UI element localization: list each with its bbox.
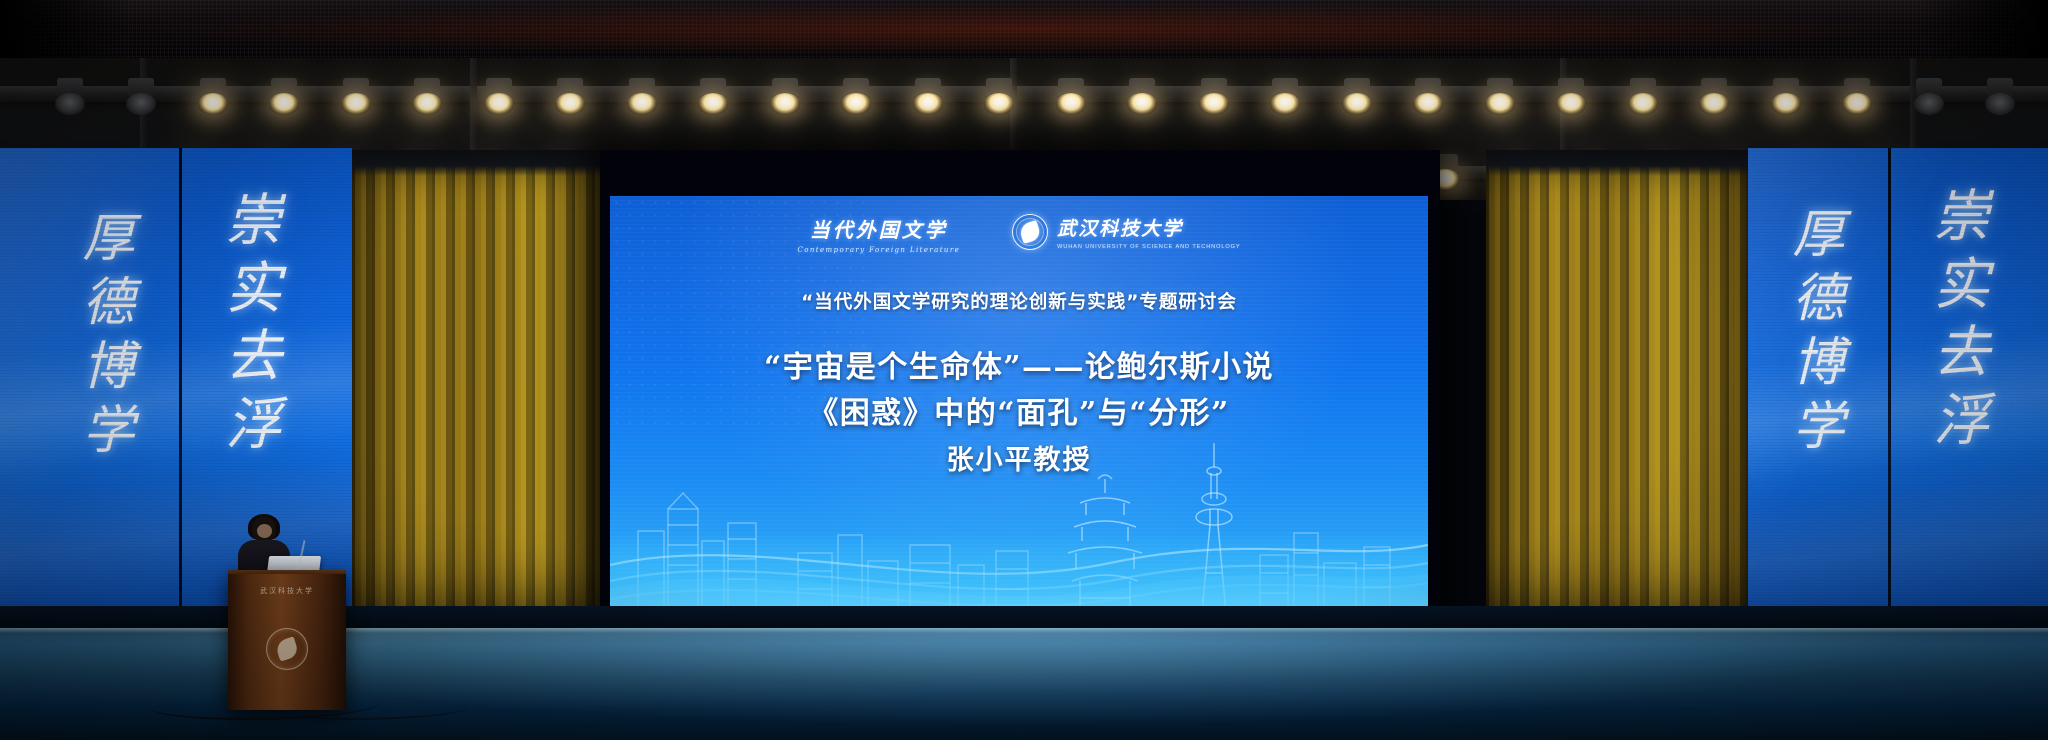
led-banner-text: “当代外国文学研究的理论创新与实践”专题研讨会 (0, 0, 2048, 58)
light-lens-icon (1628, 93, 1658, 115)
wall-panel-seam (179, 148, 182, 668)
light-lens-icon (126, 93, 156, 115)
curtain-valance (1486, 150, 1748, 176)
stage-light-fixture (1483, 78, 1517, 118)
university-logo-en: WUHAN UNIVERSITY OF SCIENCE AND TECHNOLO… (1057, 244, 1240, 250)
light-lens-icon (698, 93, 728, 115)
led-banner: “当代外国文学研究的理论创新与实践”专题研讨会 (0, 0, 2048, 58)
light-lens-icon (1056, 93, 1086, 115)
light-lens-icon (1556, 93, 1586, 115)
stage-light-fixture (1054, 78, 1088, 118)
light-lens-icon (269, 93, 299, 115)
podium-emblem-icon (266, 628, 308, 670)
light-lens-icon (1199, 93, 1229, 115)
stage-light-fixture (1697, 78, 1731, 118)
light-lens-icon (1771, 93, 1801, 115)
wall-panel-seam (1888, 148, 1891, 668)
stage-light-fixture (1554, 78, 1588, 118)
light-lens-icon (984, 93, 1014, 115)
stage-light-fixture (911, 78, 945, 118)
light-lens-icon (484, 93, 514, 115)
screen-speaker-name: 张小平教授 (610, 438, 1428, 477)
calligraphy-left-column-1: 厚德博学 (66, 210, 141, 466)
light-lens-icon (770, 93, 800, 115)
stage-light-fixture (1912, 78, 1946, 118)
calligraphy-right-column-2: 崇实去浮 (1916, 186, 1997, 458)
yellow-crane-tower-icon (1068, 475, 1142, 613)
light-lens-icon (1270, 93, 1300, 115)
stage-light-fixture (696, 78, 730, 118)
stage-light-fixture (267, 78, 301, 118)
podium-label: 武汉科技大学 (260, 586, 314, 596)
stage-curtain-right (1486, 150, 1748, 650)
light-lens-icon (1842, 93, 1872, 115)
stage-light-fixture (553, 78, 587, 118)
stage-light-fixture (1983, 78, 2017, 118)
stage-light-fixture (339, 78, 373, 118)
light-lens-icon (627, 93, 657, 115)
university-emblem-icon (1012, 214, 1048, 250)
light-lens-icon (198, 93, 228, 115)
stage-light-fixture (53, 78, 87, 118)
stage-light-fixture (768, 78, 802, 118)
light-lens-icon (1413, 93, 1443, 115)
light-lens-icon (913, 93, 943, 115)
light-lens-icon (1485, 93, 1515, 115)
light-lens-icon (555, 93, 585, 115)
screen-logo-row: 当代外国文学 Contemporary Foreign Literature 武… (610, 214, 1428, 254)
stage-light-fixture (410, 78, 444, 118)
podium-top-surface (228, 570, 346, 574)
light-lens-icon (1127, 93, 1157, 115)
truss-bar-upper (0, 86, 2048, 102)
stage-light-fixture (1197, 78, 1231, 118)
projection-screen: 当代外国文学 Contemporary Foreign Literature 武… (610, 196, 1428, 628)
stage-curtain-left (352, 150, 612, 650)
university-logo-cn: 武汉科技大学 (1057, 214, 1240, 241)
light-lens-icon (341, 93, 371, 115)
stage-light-fixture (124, 78, 158, 118)
curtain-valance (352, 150, 612, 176)
journal-logo-en: Contemporary Foreign Literature (798, 246, 961, 254)
stage-light-fixture (1340, 78, 1374, 118)
light-lens-icon (1342, 93, 1372, 115)
stage-light-fixture (482, 78, 516, 118)
wall-sheen (0, 313, 352, 484)
light-lens-icon (55, 93, 85, 115)
stage-light-fixture (1125, 78, 1159, 118)
led-wall-right: 厚德博学 崇实去浮 (1748, 148, 2048, 668)
light-lens-icon (1985, 93, 2015, 115)
stage-light-fixture (1411, 78, 1445, 118)
journal-logo: 当代外国文学 Contemporary Foreign Literature (798, 214, 961, 254)
screen-lecture-title-line-2: 《困惑》中的“面孔”与“分形” (610, 388, 1428, 432)
light-lens-icon (1699, 93, 1729, 115)
screen-lecture-title-line-1: “宇宙是个生命体”——论鲍尔斯小说 (610, 342, 1428, 386)
light-lens-icon (841, 93, 871, 115)
stage-light-fixture (625, 78, 659, 118)
stage-light-fixture (982, 78, 1016, 118)
stage-light-fixture (196, 78, 230, 118)
stage-light-fixture (1626, 78, 1660, 118)
stage-scene: “当代外国文学研究的理论创新与实践”专题研讨会 厚德博学 崇实去浮 厚德博学 崇… (0, 0, 2048, 740)
speaker-podium: 武汉科技大学 (228, 570, 346, 710)
university-logo-text: 武汉科技大学 WUHAN UNIVERSITY OF SCIENCE AND T… (1057, 214, 1240, 250)
stage-light-fixture (1840, 78, 1874, 118)
stage-light-fixture (839, 78, 873, 118)
stage-light-fixture (1769, 78, 1803, 118)
calligraphy-right-column-1: 厚德博学 (1776, 206, 1851, 462)
university-logo: 武汉科技大学 WUHAN UNIVERSITY OF SCIENCE AND T… (1012, 214, 1240, 250)
calligraphy-left-column-2: 崇实去浮 (208, 190, 289, 462)
speaker-face (257, 524, 272, 538)
stage-light-fixture (1268, 78, 1302, 118)
light-lens-icon (1914, 93, 1944, 115)
screen-conference-subtitle: “当代外国文学研究的理论创新与实践”专题研讨会 (610, 288, 1428, 314)
journal-logo-cn: 当代外国文学 (810, 214, 948, 243)
light-lens-icon (412, 93, 442, 115)
